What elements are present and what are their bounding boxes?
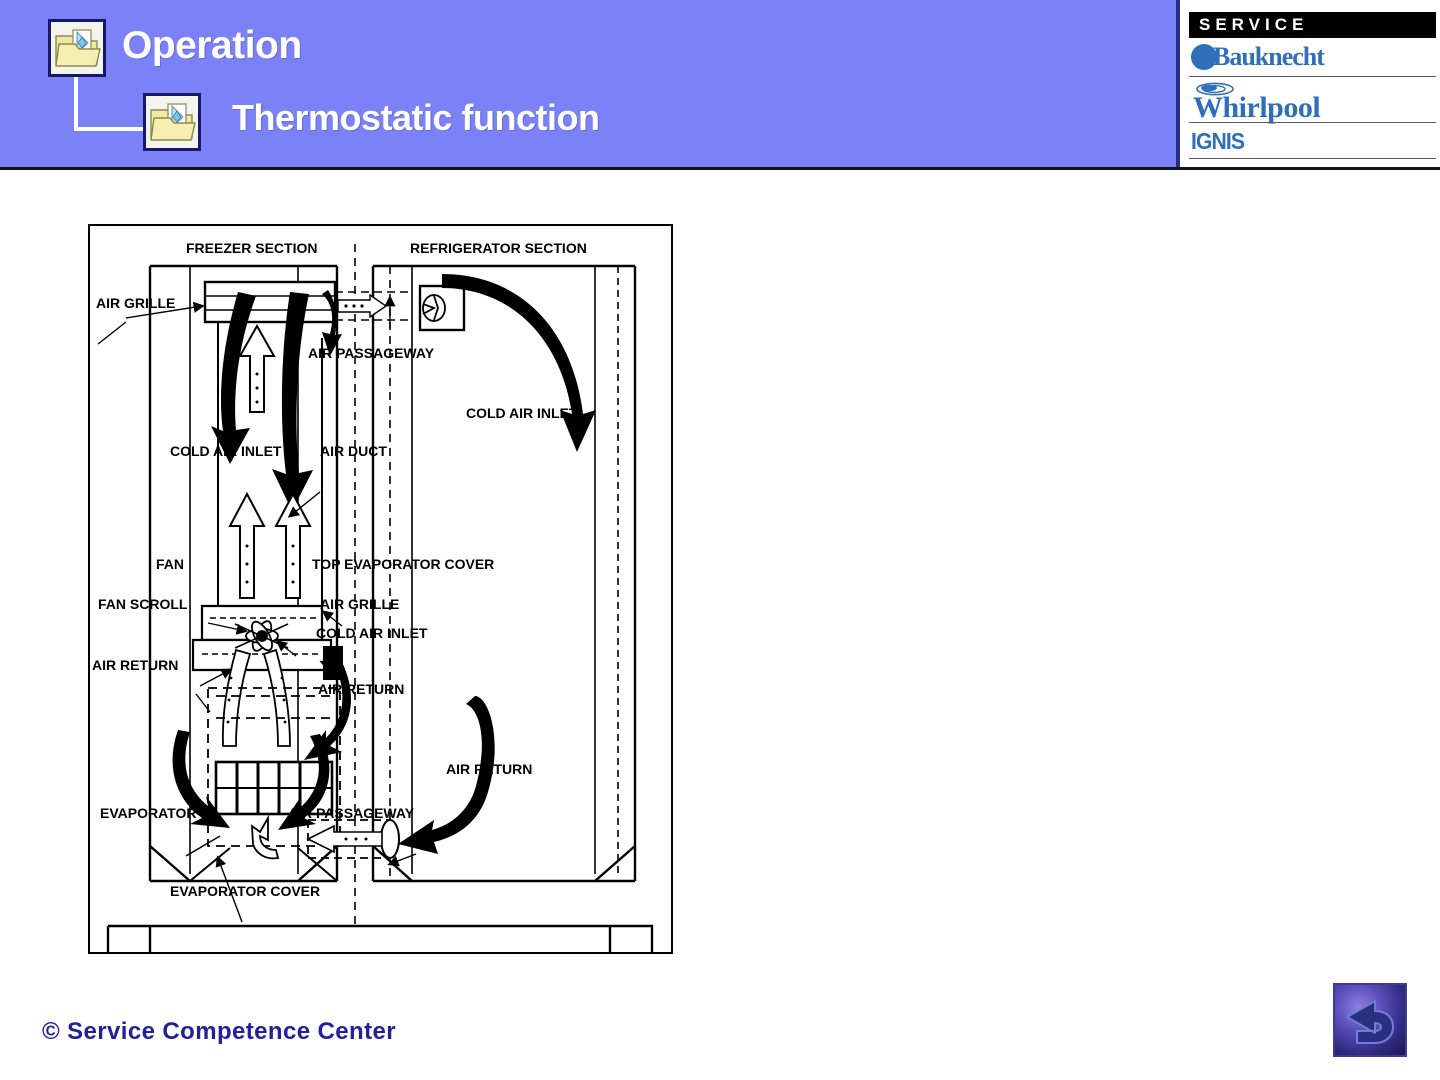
whirlpool-label: Whirlpool xyxy=(1193,91,1320,125)
folder-icon[interactable] xyxy=(143,93,201,151)
svg-text:AIR RETURN: AIR RETURN xyxy=(92,657,178,673)
svg-text:EVAPORATOR COVER: EVAPORATOR COVER xyxy=(170,883,320,899)
svg-text:AIR PASSAGEWAY: AIR PASSAGEWAY xyxy=(308,345,435,361)
brand-divider xyxy=(1189,76,1436,77)
brand-logo-bauknecht: Bauknecht xyxy=(1189,42,1436,72)
brand-logo-whirlpool: Whirlpool xyxy=(1189,82,1436,126)
connector-horizontal-segment xyxy=(74,127,144,131)
svg-text:EVAPORATOR: EVAPORATOR xyxy=(100,805,196,821)
service-label: SERVICE xyxy=(1199,15,1308,35)
svg-text:AIR DUCT: AIR DUCT xyxy=(320,443,387,459)
refrigerator-airflow-diagram: FREEZER SECTION REFRIGERATOR SECTION AIR… xyxy=(88,224,673,954)
footer-copyright: © Service Competence Center xyxy=(42,1018,396,1046)
brand-panel: SERVICE Bauknecht Whirlpool IGNIS xyxy=(1176,0,1440,167)
svg-text:REFRIGERATOR SECTION: REFRIGERATOR SECTION xyxy=(410,240,587,256)
svg-text:COLD AIR INLET: COLD AIR INLET xyxy=(316,625,428,641)
page-title: Operation xyxy=(122,24,302,68)
header-breadcrumb-area: Operation Thermostatic function xyxy=(0,0,1170,167)
brand-divider xyxy=(1189,158,1436,159)
page-header: Operation Thermostatic function SERVICE … xyxy=(0,0,1440,170)
svg-text:TOP EVAPORATOR COVER: TOP EVAPORATOR COVER xyxy=(312,556,494,572)
ignis-label: IGNIS xyxy=(1191,128,1244,155)
brand-divider xyxy=(1189,122,1436,123)
folder-icon[interactable] xyxy=(48,19,106,77)
svg-text:FAN: FAN xyxy=(156,556,184,572)
svg-text:AIR GRILLE: AIR GRILLE xyxy=(320,596,399,612)
svg-text:AIR RETURN: AIR RETURN xyxy=(318,681,404,697)
connector-vertical-segment xyxy=(74,77,78,129)
svg-text:AIR PASSAGEWAY: AIR PASSAGEWAY xyxy=(288,805,415,821)
back-arrow-icon xyxy=(1335,985,1405,1055)
diagram-svg: FREEZER SECTION REFRIGERATOR SECTION AIR… xyxy=(90,226,671,952)
back-button[interactable] xyxy=(1333,983,1407,1057)
bauknecht-label: Bauknecht xyxy=(1213,42,1324,72)
svg-text:COLD AIR INLET: COLD AIR INLET xyxy=(170,443,282,459)
brand-logo-ignis: IGNIS xyxy=(1189,128,1436,154)
breadcrumb-connector-line xyxy=(74,77,144,131)
svg-text:FREEZER SECTION: FREEZER SECTION xyxy=(186,240,317,256)
page-subtitle: Thermostatic function xyxy=(232,97,600,139)
svg-text:FAN SCROLL: FAN SCROLL xyxy=(98,596,188,612)
svg-text:COLD AIR INLET: COLD AIR INLET xyxy=(466,405,578,421)
svg-text:AIR RETURN: AIR RETURN xyxy=(446,761,532,777)
service-banner: SERVICE xyxy=(1189,12,1436,38)
svg-text:AIR GRILLE: AIR GRILLE xyxy=(96,295,175,311)
